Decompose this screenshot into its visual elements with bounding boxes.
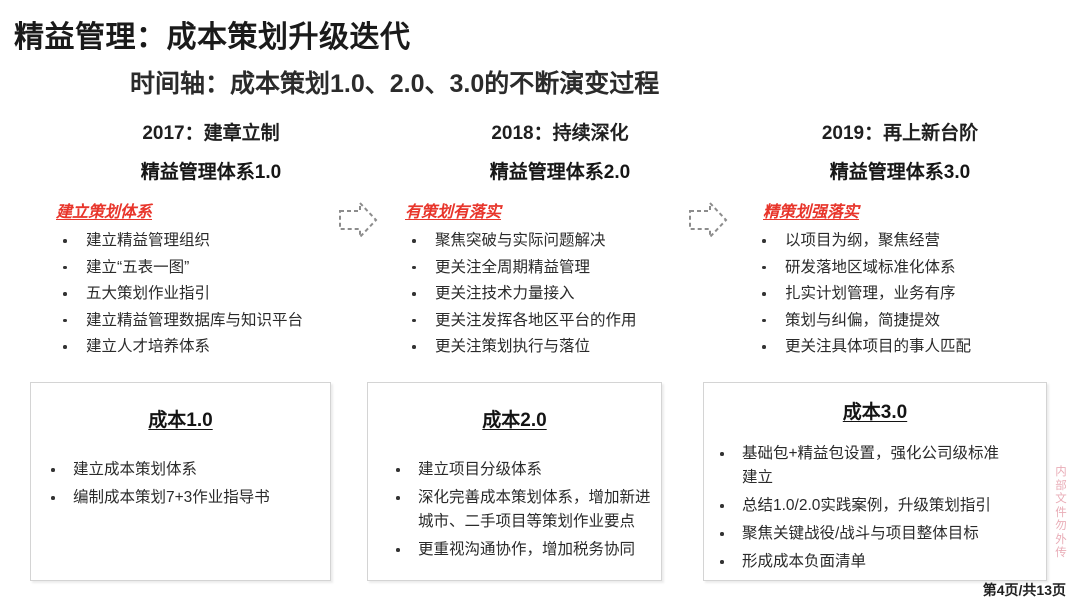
timeline-bullet-list: 聚焦突破与实际问题解决 更关注全周期精益管理 更关注技术力量接入 更关注发挥各地… (405, 229, 715, 359)
cost-box-title: 成本2.0 (368, 405, 661, 432)
timeline-bullet-list: 建立精益管理组织 建立“五表一图” 五大策划作业指引 建立精益管理数据库与知识平… (56, 229, 366, 359)
timeline-year-label: 2017：建章立制 (56, 118, 366, 145)
timeline-system-label: 精益管理体系3.0 (745, 157, 1055, 184)
watermark-char: 部 (1050, 480, 1072, 494)
list-item: 聚焦关键战役/战斗与项目整体目标 (714, 522, 1046, 546)
list-item-line-2: 城市、二手项目等策划作业要点 (418, 510, 661, 534)
dashed-right-arrow-icon (686, 198, 730, 242)
list-item-line: 编制成本策划7+3作业指导书 (73, 486, 330, 510)
cost-box-2: 成本2.0 建立项目分级体系 深化完善成本策划体系，增加新进 城市、二手项目等策… (367, 382, 662, 581)
list-item: 策划与纠偏，简捷提效 (745, 309, 1055, 333)
list-item: 建立成本策划体系 (45, 458, 330, 482)
list-item-line: 建立项目分级体系 (418, 458, 661, 482)
confidential-watermark: 内 部 文 件 勿 外 传 (1050, 466, 1072, 561)
timeline-highlight-label: 精策划强落实 (763, 198, 1055, 222)
timeline-column-2017: 2017：建章立制 精益管理体系1.0 建立策划体系 建立精益管理组织 建立“五… (56, 118, 366, 362)
timeline-year-label: 2019：再上新台阶 (745, 118, 1055, 145)
watermark-char: 内 (1050, 466, 1072, 480)
list-item: 研发落地区域标准化体系 (745, 256, 1055, 280)
list-item: 形成成本负面清单 (714, 550, 1046, 574)
list-item: 更关注具体项目的事人匹配 (745, 335, 1055, 359)
list-item: 更关注技术力量接入 (405, 282, 715, 306)
timeline-column-2019: 2019：再上新台阶 精益管理体系3.0 精策划强落实 以项目为纲，聚焦经营 研… (745, 118, 1055, 362)
list-item: 更重视沟通协作，增加税务协同 (390, 538, 661, 562)
list-item-line: 聚焦关键战役/战斗与项目整体目标 (742, 522, 1046, 546)
timeline-system-label: 精益管理体系2.0 (405, 157, 715, 184)
watermark-char: 勿 (1050, 520, 1072, 534)
list-item: 建立人才培养体系 (56, 335, 366, 359)
timeline-bullet-list: 以项目为纲，聚焦经营 研发落地区域标准化体系 扎实计划管理，业务有序 策划与纠偏… (745, 229, 1055, 359)
cost-box-bullet-list: 基础包+精益包设置，强化公司级标准 建立 总结1.0/2.0实践案例，升级策划指… (714, 442, 1046, 574)
list-item-line: 基础包+精益包设置，强化公司级标准 (742, 442, 1046, 466)
list-item: 编制成本策划7+3作业指导书 (45, 486, 330, 510)
page-indicator: 第4页/共13页 (983, 580, 1066, 600)
list-item: 基础包+精益包设置，强化公司级标准 建立 (714, 442, 1046, 490)
watermark-char: 件 (1050, 507, 1072, 521)
list-item: 总结1.0/2.0实践案例，升级策划指引 (714, 494, 1046, 518)
timeline-highlight-label: 建立策划体系 (56, 198, 366, 222)
list-item-line: 建立成本策划体系 (73, 458, 330, 482)
timeline-year-label: 2018：持续深化 (405, 118, 715, 145)
timeline-column-2018: 2018：持续深化 精益管理体系2.0 有策划有落实 聚焦突破与实际问题解决 更… (405, 118, 715, 362)
list-item: 更关注策划执行与落位 (405, 335, 715, 359)
watermark-char: 传 (1050, 547, 1072, 561)
list-item: 建立“五表一图” (56, 256, 366, 280)
list-item: 更关注发挥各地区平台的作用 (405, 309, 715, 333)
list-item: 建立精益管理数据库与知识平台 (56, 309, 366, 333)
cost-box-bullet-list: 建立项目分级体系 深化完善成本策划体系，增加新进 城市、二手项目等策划作业要点 … (390, 458, 661, 562)
watermark-char: 文 (1050, 493, 1072, 507)
cost-box-title: 成本1.0 (31, 405, 330, 432)
list-item: 五大策划作业指引 (56, 282, 366, 306)
timeline-system-label: 精益管理体系1.0 (56, 157, 366, 184)
page-title: 精益管理：成本策划升级迭代 (14, 12, 411, 56)
list-item: 建立项目分级体系 (390, 458, 661, 482)
cost-box-title: 成本3.0 (704, 397, 1046, 424)
timeline-highlight-label: 有策划有落实 (405, 198, 715, 222)
list-item-line: 更重视沟通协作，增加税务协同 (418, 538, 661, 562)
list-item: 扎实计划管理，业务有序 (745, 282, 1055, 306)
list-item-line-2: 建立 (742, 466, 1046, 490)
list-item: 以项目为纲，聚焦经营 (745, 229, 1055, 253)
dashed-right-arrow-icon (336, 198, 380, 242)
list-item: 建立精益管理组织 (56, 229, 366, 253)
watermark-char: 外 (1050, 534, 1072, 548)
page-subtitle: 时间轴：成本策划1.0、2.0、3.0的不断演变过程 (130, 64, 659, 100)
cost-box-1: 成本1.0 建立成本策划体系 编制成本策划7+3作业指导书 (30, 382, 331, 581)
list-item-line: 深化完善成本策划体系，增加新进 (418, 486, 661, 510)
cost-box-bullet-list: 建立成本策划体系 编制成本策划7+3作业指导书 (45, 458, 330, 510)
list-item-line: 总结1.0/2.0实践案例，升级策划指引 (742, 494, 1046, 518)
list-item-line: 形成成本负面清单 (742, 550, 1046, 574)
list-item: 更关注全周期精益管理 (405, 256, 715, 280)
list-item: 深化完善成本策划体系，增加新进 城市、二手项目等策划作业要点 (390, 486, 661, 534)
list-item: 聚焦突破与实际问题解决 (405, 229, 715, 253)
cost-box-3: 成本3.0 基础包+精益包设置，强化公司级标准 建立 总结1.0/2.0实践案例… (703, 382, 1047, 581)
